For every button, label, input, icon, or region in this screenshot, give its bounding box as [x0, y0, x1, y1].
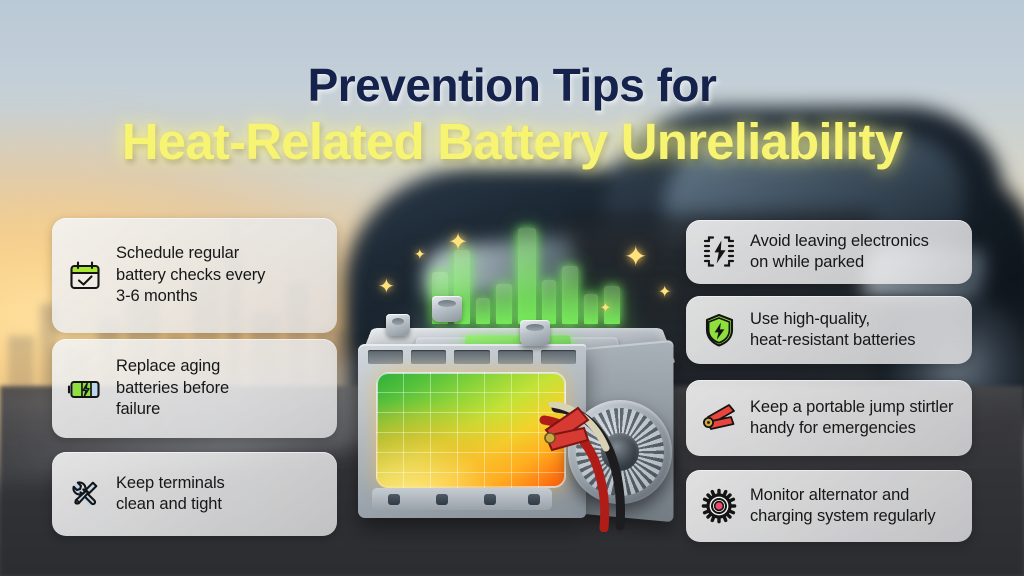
tip-text: Replace aging batteries before failure: [116, 356, 229, 420]
battery-vent-strip: [368, 350, 576, 364]
tip-text: Keep a portable jump stirtler handy for …: [750, 397, 953, 440]
calendar-check-icon: [66, 257, 104, 295]
infographic-canvas: Prevention Tips for Heat-Related Battery…: [0, 0, 1024, 576]
tip-card-jumper[interactable]: Keep a portable jump stirtler handy for …: [686, 380, 972, 456]
shield-bolt-icon: [700, 311, 738, 349]
page-title: Prevention Tips for Heat-Related Battery…: [0, 62, 1024, 167]
car-battery-3d-illustration: ✦ ✦ ✦ ✦ ✦ ✦: [352, 252, 692, 552]
tip-card-replace[interactable]: Replace aging batteries before failure: [52, 339, 337, 438]
sparkle-icon: ✦: [378, 274, 395, 299]
title-line-1: Prevention Tips for: [0, 62, 1024, 108]
tip-card-electronics[interactable]: Avoid leaving electronics on while parke…: [686, 220, 972, 284]
battery-terminal-center: [520, 320, 550, 346]
battery-charging-icon: [66, 370, 104, 408]
tip-text: Keep terminals clean and tight: [116, 473, 225, 516]
jumper-clamp-icon: [700, 399, 738, 437]
tip-text: Schedule regular battery checks every 3-…: [116, 243, 265, 307]
tip-card-quality[interactable]: Use high-quality, heat-resistant batteri…: [686, 296, 972, 364]
battery-terminal-positive: [432, 296, 462, 322]
wrench-screwdriver-icon: [66, 475, 104, 513]
battery-terminal-negative: [386, 314, 410, 336]
sparkle-icon: ✦: [658, 282, 671, 302]
tip-card-terminals[interactable]: Keep terminals clean and tight: [52, 452, 337, 536]
tip-card-schedule[interactable]: Schedule regular battery checks every 3-…: [52, 218, 337, 333]
gear-icon: [700, 487, 738, 525]
tip-card-alternator[interactable]: Monitor alternator and charging system r…: [686, 470, 972, 542]
battery-base-rail: [372, 488, 552, 510]
tip-text: Avoid leaving electronics on while parke…: [750, 231, 929, 274]
jumper-cables-illustration: [538, 402, 658, 532]
circuit-chip-bolt-icon: [700, 233, 738, 271]
title-line-2: Heat-Related Battery Unreliability: [0, 116, 1024, 167]
tip-text: Use high-quality, heat-resistant batteri…: [750, 309, 915, 352]
tip-text: Monitor alternator and charging system r…: [750, 485, 936, 528]
